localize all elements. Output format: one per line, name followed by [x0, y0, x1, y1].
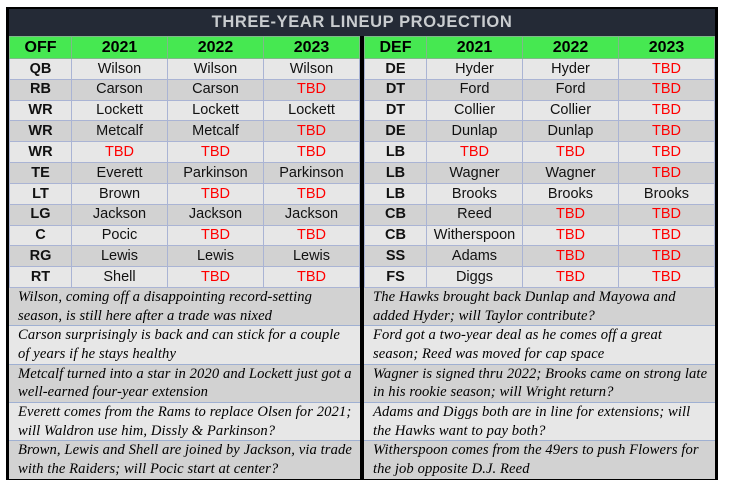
offense-2022-player: Metcalf	[168, 121, 264, 142]
offense-column: OFF 2021 2022 2023 QBWilsonWilsonWilsonR…	[9, 36, 364, 288]
offense-note: Metcalf turned into a star in 2020 and L…	[9, 365, 360, 403]
defense-notes-column: The Hawks brought back Dunlap and Mayowa…	[364, 288, 715, 479]
offense-2021-player: Carson	[72, 79, 168, 100]
offense-2022-player: Parkinson	[168, 163, 264, 184]
defense-2023-player: TBD	[619, 79, 715, 100]
defense-2021-player: Ford	[427, 79, 523, 100]
defense-notes-list: The Hawks brought back Dunlap and Mayowa…	[364, 288, 715, 479]
offense-row: WRTBDTBDTBD	[10, 142, 360, 163]
defense-2023-player: TBD	[619, 142, 715, 163]
defense-2023-player: TBD	[619, 121, 715, 142]
defense-note: The Hawks brought back Dunlap and Mayowa…	[364, 288, 715, 326]
defense-2022-player: Ford	[523, 79, 619, 100]
defense-note: Ford got a two-year deal as he comes off…	[364, 326, 715, 364]
offense-2022-player: Lewis	[168, 246, 264, 267]
defense-position: DE	[365, 121, 427, 142]
defense-position: LB	[365, 183, 427, 204]
offense-position: WR	[10, 121, 72, 142]
offense-2023-player: Parkinson	[264, 163, 360, 184]
graphic-frame: THREE-YEAR LINEUP PROJECTION OFF 2021 20…	[6, 7, 718, 480]
offense-2021-player: Metcalf	[72, 121, 168, 142]
defense-note-text: Ford got a two-year deal as he comes off…	[373, 326, 709, 363]
offense-2023-player: TBD	[264, 183, 360, 204]
title-bar: THREE-YEAR LINEUP PROJECTION	[9, 9, 715, 36]
offense-note-text: Wilson, coming off a disappointing recor…	[18, 288, 354, 325]
defense-2023-player: TBD	[619, 163, 715, 184]
defense-row: DTFordFordTBD	[365, 79, 715, 100]
defense-2022-player: TBD	[523, 204, 619, 225]
offense-position: C	[10, 225, 72, 246]
defense-header-2021: 2021	[427, 37, 523, 59]
defense-note-text: The Hawks brought back Dunlap and Mayowa…	[373, 288, 709, 325]
defense-2023-player: TBD	[619, 100, 715, 121]
offense-2022-player: TBD	[168, 225, 264, 246]
defense-2021-player: Diggs	[427, 267, 523, 288]
defense-table-body: DEHyderHyderTBDDTFordFordTBDDTCollierCol…	[365, 59, 715, 288]
offense-note-text: Brown, Lewis and Shell are joined by Jac…	[18, 441, 354, 478]
defense-position: CB	[365, 225, 427, 246]
offense-note: Everett comes from the Rams to replace O…	[9, 403, 360, 441]
offense-position: RG	[10, 246, 72, 267]
defense-2022-player: Brooks	[523, 183, 619, 204]
defense-position: CB	[365, 204, 427, 225]
offense-row: RTShellTBDTBD	[10, 267, 360, 288]
offense-note: Wilson, coming off a disappointing recor…	[9, 288, 360, 326]
offense-header-2022: 2022	[168, 37, 264, 59]
offense-2023-player: TBD	[264, 225, 360, 246]
offense-row: WRLockettLockettLockett	[10, 100, 360, 121]
offense-2022-player: TBD	[168, 267, 264, 288]
offense-row: CPocicTBDTBD	[10, 225, 360, 246]
offense-2022-player: Lockett	[168, 100, 264, 121]
offense-2023-player: TBD	[264, 267, 360, 288]
defense-2021-player: Dunlap	[427, 121, 523, 142]
defense-row: SSAdamsTBDTBD	[365, 246, 715, 267]
offense-note: Brown, Lewis and Shell are joined by Jac…	[9, 441, 360, 478]
offense-position: LG	[10, 204, 72, 225]
defense-2021-player: Collier	[427, 100, 523, 121]
offense-row: TEEverettParkinsonParkinson	[10, 163, 360, 184]
defense-row: LBWagnerWagnerTBD	[365, 163, 715, 184]
offense-note-text: Carson surprisingly is back and can stic…	[18, 326, 354, 363]
defense-row: CBReedTBDTBD	[365, 204, 715, 225]
defense-2022-player: Collier	[523, 100, 619, 121]
defense-2021-player: Brooks	[427, 183, 523, 204]
offense-2022-player: Jackson	[168, 204, 264, 225]
offense-2022-player: TBD	[168, 183, 264, 204]
defense-column: DEF 2021 2022 2023 DEHyderHyderTBDDTFord…	[364, 36, 715, 288]
defense-row: CBWitherspoonTBDTBD	[365, 225, 715, 246]
offense-header-pos: OFF	[10, 37, 72, 59]
offense-position: RT	[10, 267, 72, 288]
offense-header-2021: 2021	[72, 37, 168, 59]
offense-row: RBCarsonCarsonTBD	[10, 79, 360, 100]
defense-2021-player: TBD	[427, 142, 523, 163]
offense-position: RB	[10, 79, 72, 100]
defense-2023-player: Brooks	[619, 183, 715, 204]
offense-position: LT	[10, 183, 72, 204]
defense-position: FS	[365, 267, 427, 288]
defense-header-2022: 2022	[523, 37, 619, 59]
page-title: THREE-YEAR LINEUP PROJECTION	[212, 13, 513, 32]
offense-position: WR	[10, 142, 72, 163]
defense-2022-player: TBD	[523, 246, 619, 267]
defense-2023-player: TBD	[619, 246, 715, 267]
defense-2021-player: Reed	[427, 204, 523, 225]
offense-2023-player: TBD	[264, 79, 360, 100]
offense-row: RGLewisLewisLewis	[10, 246, 360, 267]
offense-note-text: Metcalf turned into a star in 2020 and L…	[18, 365, 354, 402]
offense-note: Carson surprisingly is back and can stic…	[9, 326, 360, 364]
defense-2022-player: Dunlap	[523, 121, 619, 142]
defense-row: DEHyderHyderTBD	[365, 59, 715, 80]
offense-row: WRMetcalfMetcalfTBD	[10, 121, 360, 142]
defense-2021-player: Witherspoon	[427, 225, 523, 246]
defense-2022-player: TBD	[523, 267, 619, 288]
defense-note-text: Wagner is signed thru 2022; Brooks came …	[373, 365, 709, 402]
offense-2021-player: TBD	[72, 142, 168, 163]
defense-2022-player: TBD	[523, 225, 619, 246]
defense-row: DEDunlapDunlapTBD	[365, 121, 715, 142]
defense-2023-player: TBD	[619, 225, 715, 246]
offense-2021-player: Everett	[72, 163, 168, 184]
defense-note: Adams and Diggs both are in line for ext…	[364, 403, 715, 441]
offense-2021-player: Pocic	[72, 225, 168, 246]
offense-table: OFF 2021 2022 2023 QBWilsonWilsonWilsonR…	[9, 36, 360, 288]
defense-2021-player: Adams	[427, 246, 523, 267]
offense-2021-player: Lockett	[72, 100, 168, 121]
defense-header-pos: DEF	[365, 37, 427, 59]
offense-header-2023: 2023	[264, 37, 360, 59]
defense-note: Witherspoon comes from the 49ers to push…	[364, 441, 715, 478]
defense-row: LBBrooksBrooksBrooks	[365, 183, 715, 204]
offense-row: QBWilsonWilsonWilson	[10, 59, 360, 80]
defense-2023-player: TBD	[619, 59, 715, 80]
defense-header-row: DEF 2021 2022 2023	[365, 37, 715, 59]
defense-position: DT	[365, 79, 427, 100]
defense-row: LBTBDTBDTBD	[365, 142, 715, 163]
offense-2021-player: Wilson	[72, 59, 168, 80]
defense-2022-player: Hyder	[523, 59, 619, 80]
offense-note-text: Everett comes from the Rams to replace O…	[18, 403, 354, 440]
offense-notes-list: Wilson, coming off a disappointing recor…	[9, 288, 360, 479]
defense-2022-player: Wagner	[523, 163, 619, 184]
offense-2023-player: Lockett	[264, 100, 360, 121]
offense-position: WR	[10, 100, 72, 121]
defense-position: LB	[365, 163, 427, 184]
defense-table: DEF 2021 2022 2023 DEHyderHyderTBDDTFord…	[364, 36, 715, 288]
tables-row: OFF 2021 2022 2023 QBWilsonWilsonWilsonR…	[9, 36, 715, 288]
offense-2023-player: Jackson	[264, 204, 360, 225]
defense-position: DE	[365, 59, 427, 80]
notes-row: Wilson, coming off a disappointing recor…	[9, 288, 715, 479]
offense-2021-player: Shell	[72, 267, 168, 288]
defense-row: DTCollierCollierTBD	[365, 100, 715, 121]
offense-notes-column: Wilson, coming off a disappointing recor…	[9, 288, 364, 479]
defense-note: Wagner is signed thru 2022; Brooks came …	[364, 365, 715, 403]
defense-row: FSDiggsTBDTBD	[365, 267, 715, 288]
defense-2021-player: Hyder	[427, 59, 523, 80]
defense-2022-player: TBD	[523, 142, 619, 163]
lineup-projection-graphic: THREE-YEAR LINEUP PROJECTION OFF 2021 20…	[0, 0, 734, 486]
offense-position: QB	[10, 59, 72, 80]
offense-2023-player: TBD	[264, 121, 360, 142]
offense-2022-player: Wilson	[168, 59, 264, 80]
defense-2021-player: Wagner	[427, 163, 523, 184]
defense-2023-player: TBD	[619, 204, 715, 225]
offense-header-row: OFF 2021 2022 2023	[10, 37, 360, 59]
offense-2023-player: Lewis	[264, 246, 360, 267]
offense-row: LTBrownTBDTBD	[10, 183, 360, 204]
offense-2021-player: Brown	[72, 183, 168, 204]
defense-header-2023: 2023	[619, 37, 715, 59]
defense-note-text: Adams and Diggs both are in line for ext…	[373, 403, 709, 440]
offense-2021-player: Jackson	[72, 204, 168, 225]
offense-2023-player: Wilson	[264, 59, 360, 80]
offense-row: LGJacksonJacksonJackson	[10, 204, 360, 225]
defense-position: DT	[365, 100, 427, 121]
defense-2023-player: TBD	[619, 267, 715, 288]
defense-note-text: Witherspoon comes from the 49ers to push…	[373, 441, 709, 478]
offense-2022-player: TBD	[168, 142, 264, 163]
offense-2021-player: Lewis	[72, 246, 168, 267]
defense-position: SS	[365, 246, 427, 267]
offense-table-body: QBWilsonWilsonWilsonRBCarsonCarsonTBDWRL…	[10, 59, 360, 288]
offense-2023-player: TBD	[264, 142, 360, 163]
graphic-body: OFF 2021 2022 2023 QBWilsonWilsonWilsonR…	[9, 36, 715, 479]
defense-position: LB	[365, 142, 427, 163]
offense-position: TE	[10, 163, 72, 184]
offense-2022-player: Carson	[168, 79, 264, 100]
